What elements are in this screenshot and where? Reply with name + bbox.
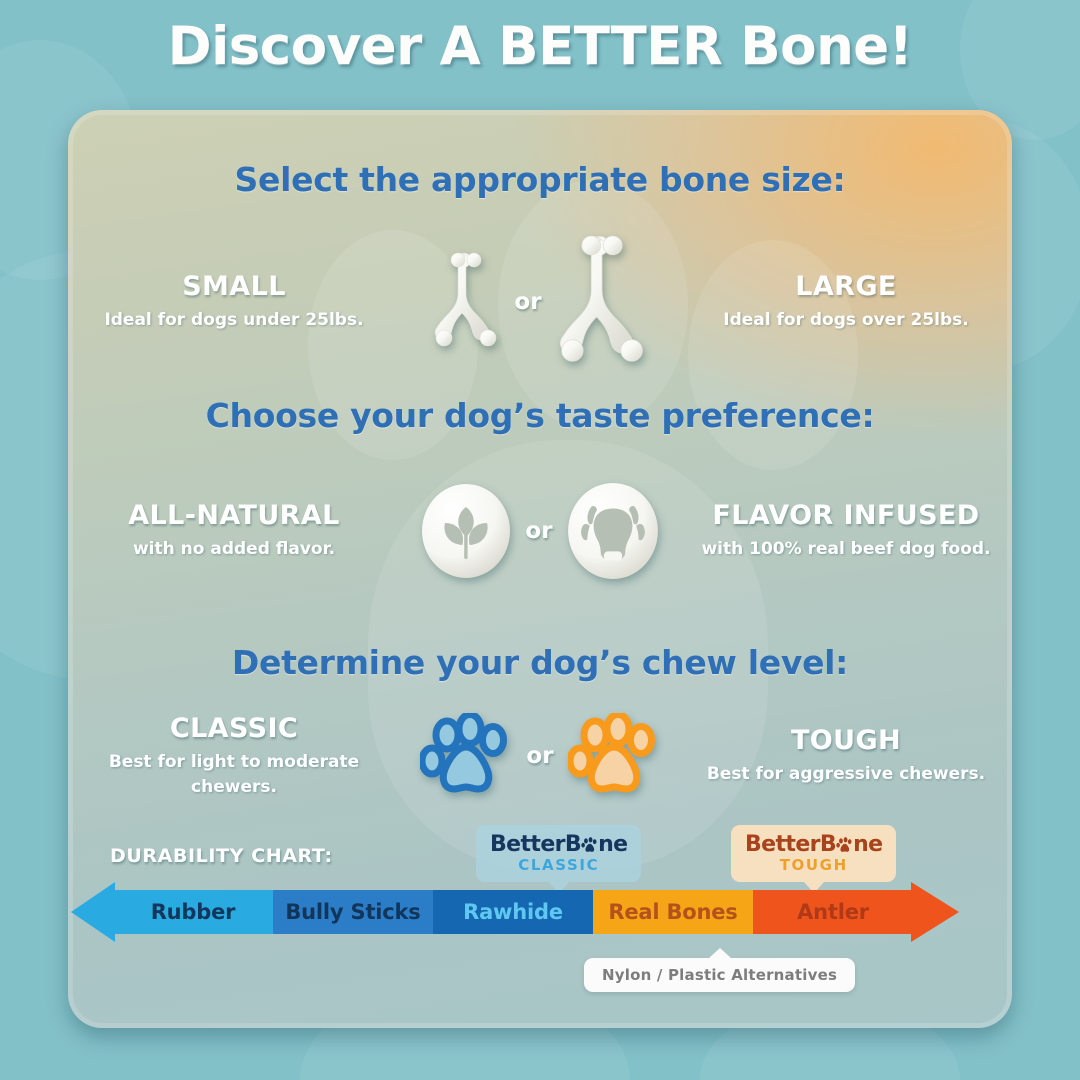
nylon-note-text: Nylon / Plastic Alternatives (602, 966, 837, 984)
badge-tough-brand-part-c: ne (853, 832, 882, 857)
option-large-title: LARGE (696, 271, 996, 302)
durability-segment-antler[interactable]: Antler (753, 890, 913, 934)
option-tough: TOUGH Best for aggressive chewers. (696, 725, 996, 787)
option-classic-title: CLASSIC (84, 713, 384, 744)
option-classic: CLASSIC Best for light to moderate chewe… (84, 713, 384, 799)
large-bone-icon (556, 232, 648, 372)
badge-tough-brand: Better B ne (745, 832, 882, 857)
badge-betterbone-tough: Better B ne TOUGH (731, 825, 896, 882)
durability-arrow-right (911, 882, 959, 942)
section-heading-bone-size: Select the appropriate bone size: (68, 160, 1012, 199)
divider-or-taste: or (521, 518, 556, 544)
durability-bar: Rubber Bully Sticks Rawhide Real Bones A… (113, 890, 913, 934)
option-small-title: SMALL (84, 271, 384, 302)
option-row-chew-level: CLASSIC Best for light to moderate chewe… (68, 713, 1012, 799)
badge-tough-brand-part-b: B (820, 832, 836, 857)
durability-segment-rubber[interactable]: Rubber (113, 890, 273, 934)
nylon-note-pointer (709, 948, 731, 958)
leaf-circle-icon (421, 483, 511, 579)
paw-o-icon (581, 836, 598, 853)
blue-paw-icon (420, 713, 512, 799)
option-large-subtitle: Ideal for dogs over 25lbs. (696, 308, 996, 333)
divider-or-chew-level: or (522, 743, 557, 769)
chew-level-icons: or (390, 713, 690, 799)
option-flavor-infused: FLAVOR INFUSED with 100% real beef dog f… (696, 500, 996, 562)
paw-o-icon (836, 836, 853, 853)
badge-classic-brand-part-c: ne (598, 832, 627, 857)
bone-size-icons: or (390, 232, 690, 372)
nylon-alternatives-note: Nylon / Plastic Alternatives (584, 958, 855, 992)
page-title: Discover A BETTER Bone! (0, 16, 1080, 77)
badge-classic-brand-part-a: Better (490, 832, 565, 857)
orange-paw-icon (568, 713, 660, 799)
section-heading-chew-level: Determine your dog’s chew level: (68, 643, 1012, 682)
small-bone-icon (432, 250, 500, 354)
option-all-natural: ALL-NATURAL with no added flavor. (84, 500, 384, 562)
section-heading-taste: Choose your dog’s taste preference: (68, 396, 1012, 435)
option-row-bone-size: SMALL Ideal for dogs under 25lbs. (68, 232, 1012, 372)
option-small: SMALL Ideal for dogs under 25lbs. (84, 271, 384, 333)
main-card: Select the appropriate bone size: SMALL … (68, 110, 1012, 1028)
cow-circle-icon (567, 482, 659, 580)
option-tough-subtitle: Best for aggressive chewers. (696, 762, 996, 787)
option-tough-title: TOUGH (696, 725, 996, 756)
option-large: LARGE Ideal for dogs over 25lbs. (696, 271, 996, 333)
badge-betterbone-classic: Better B ne CLASSIC (476, 825, 641, 882)
durability-segment-rawhide[interactable]: Rawhide (433, 890, 593, 934)
badge-tough-sub: TOUGH (745, 856, 882, 874)
durability-chart: Rubber Bully Sticks Rawhide Real Bones A… (68, 890, 1012, 950)
option-flavor-infused-title: FLAVOR INFUSED (696, 500, 996, 531)
badge-tough-brand-part-a: Better (745, 832, 820, 857)
option-classic-subtitle: Best for light to moderate chewers. (84, 750, 384, 799)
durability-segment-real-bones[interactable]: Real Bones (593, 890, 753, 934)
divider-or-bone-size: or (510, 289, 545, 315)
option-flavor-infused-subtitle: with 100% real beef dog food. (696, 537, 996, 562)
option-row-taste: ALL-NATURAL with no added flavor. (68, 482, 1012, 580)
badge-classic-brand-part-b: B (565, 832, 581, 857)
option-all-natural-title: ALL-NATURAL (84, 500, 384, 531)
durability-arrow-left (71, 882, 115, 942)
durability-chart-label: DURABILITY CHART: (110, 845, 333, 867)
taste-icons: or (390, 482, 690, 580)
durability-segment-bully-sticks[interactable]: Bully Sticks (273, 890, 433, 934)
badge-classic-sub: CLASSIC (490, 856, 627, 874)
option-small-subtitle: Ideal for dogs under 25lbs. (84, 308, 384, 333)
badge-classic-brand: Better B ne (490, 832, 627, 857)
option-all-natural-subtitle: with no added flavor. (84, 537, 384, 562)
